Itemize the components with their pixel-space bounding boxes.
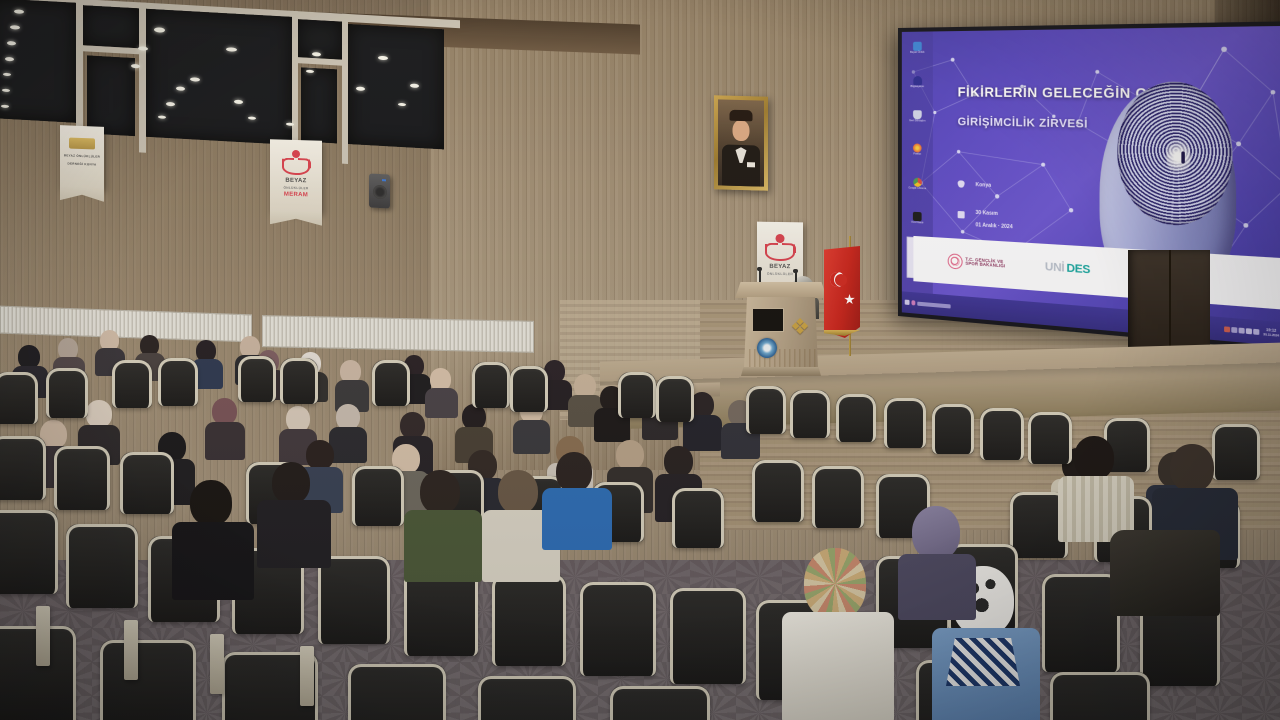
institution-emblem-icon <box>69 138 95 150</box>
window-pane-2 <box>83 5 139 48</box>
seat[interactable] <box>1212 424 1260 480</box>
auditorium-photo: BEYAZ ÖNLÜKLÜLER DERNEĞİ KONYA BEYAZ ÖNL… <box>0 0 1280 720</box>
ceiling-light-reflection <box>166 102 175 107</box>
podium-top-desk <box>735 282 827 298</box>
seat-pedestal <box>36 606 50 666</box>
podium-display-panel <box>752 308 784 332</box>
gsb-emblem-icon <box>947 253 962 269</box>
turkish-flag <box>824 246 860 338</box>
beyaz-onluklular-heart-icon <box>283 150 309 175</box>
window-mullion-2 <box>139 2 146 152</box>
desktop-icon-new-folder[interactable]: Yeni Klasör <box>911 211 924 225</box>
ceiling-light-reflection <box>1 105 9 108</box>
ceiling-light-reflection <box>286 123 294 126</box>
ceiling-light-reflection <box>378 56 388 61</box>
seat[interactable] <box>120 452 174 514</box>
start-button-icon[interactable] <box>905 300 909 305</box>
seat[interactable] <box>66 524 138 608</box>
pennant-banner-beyaz-meram: BEYAZ ÖNLÜKLÜLER MERAM <box>270 139 322 212</box>
seat[interactable] <box>752 460 804 522</box>
ceiling-light-reflection <box>14 9 24 14</box>
speaker-led <box>382 179 386 182</box>
desktop-icon-label: Google Chrome <box>908 187 926 191</box>
seat[interactable] <box>884 398 926 448</box>
window-pane-3 <box>87 55 135 136</box>
seat[interactable] <box>112 360 152 408</box>
calendar-icon <box>958 211 965 219</box>
tray-icon-3[interactable] <box>1239 328 1244 334</box>
wall-speaker-icon <box>369 173 390 208</box>
ataturk-portrait <box>714 95 768 190</box>
seat[interactable] <box>0 436 46 500</box>
window-pane-1 <box>0 0 76 123</box>
seat[interactable] <box>158 358 198 406</box>
location-pin-icon <box>958 180 965 187</box>
microphone-head-2 <box>793 269 798 273</box>
desktop-icon-recycle-bin[interactable]: Geri Dönüşüm <box>909 110 925 123</box>
desktop-icon-label: Firefox <box>913 154 922 157</box>
ceiling-light-reflection <box>2 89 10 92</box>
podium-emblem-icon <box>757 338 777 358</box>
desktop-icon-beyaz-onluk[interactable]: Beyaz Önlük <box>910 42 924 55</box>
ceiling-light-reflection <box>154 27 165 33</box>
window-pane-6 <box>301 67 337 143</box>
brain-light-glow <box>1166 137 1190 177</box>
microphone-stem-2 <box>795 272 797 283</box>
seat[interactable] <box>0 510 58 594</box>
ceiling-light-reflection <box>10 25 20 30</box>
ceiling-light-reflection <box>312 52 321 57</box>
microphone-head-1 <box>757 267 762 271</box>
ceiling-light-reflection <box>248 116 256 119</box>
taskbar-clock[interactable]: 19:12 30.11.2024 <box>1263 329 1279 338</box>
ceiling-light-reflection <box>356 86 365 91</box>
pennant-beyaz-line3: MERAM <box>270 191 322 198</box>
seat[interactable] <box>746 386 786 434</box>
ceiling-light-reflection <box>306 70 314 73</box>
seat[interactable] <box>492 574 566 666</box>
microphone-stem-1 <box>759 270 761 283</box>
taskbar-app-icon[interactable] <box>911 300 915 305</box>
desktop-icon-label: Beyaz Önlük <box>910 52 924 55</box>
taskbar-window-button[interactable] <box>917 301 950 308</box>
seat[interactable] <box>352 466 404 526</box>
unides-part1: UNİ <box>1045 261 1064 275</box>
seat[interactable] <box>348 664 446 720</box>
desktop-icon-label: Geri Dönüşüm <box>909 120 925 123</box>
seat[interactable] <box>0 372 38 424</box>
seat[interactable] <box>610 686 710 720</box>
pennant-beyaz-line2: ÖNLÜKLÜLER <box>270 185 322 190</box>
gsb-line2: SPOR BAKANLIĞI <box>965 262 1005 270</box>
ceiling-light-reflection <box>190 77 200 82</box>
ceiling-light-reflection <box>410 83 419 88</box>
seat[interactable] <box>318 556 390 644</box>
seat[interactable] <box>280 358 318 404</box>
unides-logo: UNİ DES <box>1045 261 1090 277</box>
seat[interactable] <box>580 582 656 676</box>
desktop-icon-chrome[interactable]: Google Chrome <box>908 177 926 191</box>
desktop-icon-label: Yeni Klasör <box>911 221 924 225</box>
seat[interactable] <box>54 446 110 510</box>
portrait-face <box>733 120 750 141</box>
seat-pedestal <box>300 646 314 706</box>
radiator-center <box>262 315 534 353</box>
seat[interactable] <box>980 408 1024 460</box>
seat[interactable] <box>672 488 724 548</box>
silhouette-figure <box>1182 151 1186 163</box>
seat-pedestal <box>124 620 138 680</box>
tray-volume-icon[interactable] <box>1246 328 1252 334</box>
flag-crescent-icon <box>830 272 845 287</box>
flag-star-icon <box>844 294 855 305</box>
portrait-pocket-square <box>747 162 755 167</box>
ceiling-light-reflection <box>158 115 166 118</box>
gsb-logo: T.C. GENÇLİK VE SPOR BAKANLIĞI <box>947 253 1005 272</box>
ceiling-light-reflection <box>3 73 11 76</box>
seat[interactable] <box>510 366 548 412</box>
podium-lectern: ❖ <box>741 282 821 377</box>
seat[interactable] <box>812 466 864 528</box>
ceiling-light-reflection <box>7 41 16 46</box>
tray-icon-1[interactable] <box>1224 327 1229 333</box>
led-presentation-screen[interactable]: Beyaz Önlük Bilgisayarım Geri Dönüşüm Fi… <box>898 21 1280 352</box>
portrait-hat <box>730 110 753 122</box>
pennant-left-line2: DERNEĞİ KONYA <box>60 161 104 167</box>
seat[interactable] <box>46 368 88 418</box>
tray-icon-2[interactable] <box>1231 327 1236 333</box>
seat[interactable] <box>670 588 746 684</box>
ceiling-light-reflection <box>398 103 406 106</box>
podium-ornament-icon: ❖ <box>789 310 811 344</box>
screen-surface: Beyaz Önlük Bilgisayarım Geri Dönüşüm Fi… <box>902 26 1280 347</box>
seat-pedestal <box>210 634 224 694</box>
seat[interactable] <box>472 362 510 408</box>
slide-date-line1: 30 Kasım <box>975 209 997 218</box>
ceiling-light-reflection <box>5 57 14 62</box>
podium-base <box>741 367 821 376</box>
seat[interactable] <box>100 640 196 720</box>
window-pane-4 <box>146 9 292 145</box>
seat[interactable] <box>1028 412 1072 464</box>
pennant-beyaz-line1: BEYAZ <box>270 177 322 184</box>
seat[interactable] <box>656 376 694 422</box>
seat[interactable] <box>836 394 876 442</box>
seat[interactable] <box>478 676 576 720</box>
desktop-icon-label: Bilgisayarım <box>910 86 924 89</box>
desktop-icon-bilgisayarim[interactable]: Bilgisayarım <box>910 76 924 89</box>
desktop-icon-firefox[interactable]: Firefox <box>913 144 922 157</box>
seat[interactable] <box>1042 574 1120 672</box>
ceiling-light-reflection <box>176 86 185 91</box>
speaker-cone <box>373 184 387 199</box>
unides-part2: DES <box>1066 263 1090 277</box>
pennant-banner-left: BEYAZ ÖNLÜKLÜLER DERNEĞİ KONYA <box>60 125 104 189</box>
tray-network-icon[interactable] <box>1253 329 1259 335</box>
ceiling-light-reflection <box>138 46 148 51</box>
slide-location: Konya <box>975 182 991 190</box>
scarf-greek-key-pattern <box>946 638 1020 686</box>
ceiling-light-reflection <box>131 64 140 69</box>
pennant-left-line1: BEYAZ ÖNLÜKLÜLER <box>60 153 104 159</box>
seat[interactable] <box>1050 672 1150 720</box>
podium-beyaz-heart-icon <box>766 234 794 260</box>
seat[interactable] <box>932 404 974 454</box>
clock-date: 30.11.2024 <box>1263 333 1279 338</box>
seat[interactable] <box>618 372 656 418</box>
ceiling-light-reflection <box>234 100 243 105</box>
seat[interactable] <box>790 390 830 438</box>
seat[interactable] <box>238 356 276 402</box>
seat[interactable] <box>372 360 410 406</box>
